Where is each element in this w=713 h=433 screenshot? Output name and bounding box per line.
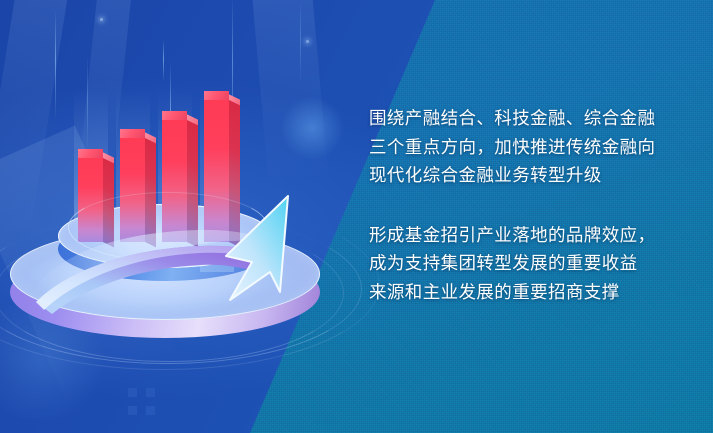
paragraph-one: 围绕产融结合、科技金融、综合金融 三个重点方向，加快推进传统金融向 现代化综合金… <box>369 104 699 190</box>
paragraph-two: 形成基金招引产业落地的品牌效应， 成为支持集团转型发展的重要收益 来源和主业发展… <box>369 221 699 307</box>
promo-banner: 围绕产融结合、科技金融、综合金融 三个重点方向，加快推进传统金融向 现代化综合金… <box>0 0 713 433</box>
growth-chart-illustration <box>0 96 345 356</box>
upward-growth-arrow <box>30 180 305 315</box>
paragraph-one-line-3: 现代化综合金融业务转型升级 <box>369 161 699 190</box>
paragraph-one-line-1: 围绕产融结合、科技金融、综合金融 <box>369 104 699 133</box>
paragraph-two-line-3: 来源和主业发展的重要招商支撑 <box>369 278 699 307</box>
paragraph-two-line-2: 成为支持集团转型发展的重要收益 <box>369 249 699 278</box>
paragraph-two-line-1: 形成基金招引产业落地的品牌效应， <box>369 221 699 250</box>
paragraph-one-line-2: 三个重点方向，加快推进传统金融向 <box>369 133 699 162</box>
banner-text-block: 围绕产融结合、科技金融、综合金融 三个重点方向，加快推进传统金融向 现代化综合金… <box>369 104 699 306</box>
